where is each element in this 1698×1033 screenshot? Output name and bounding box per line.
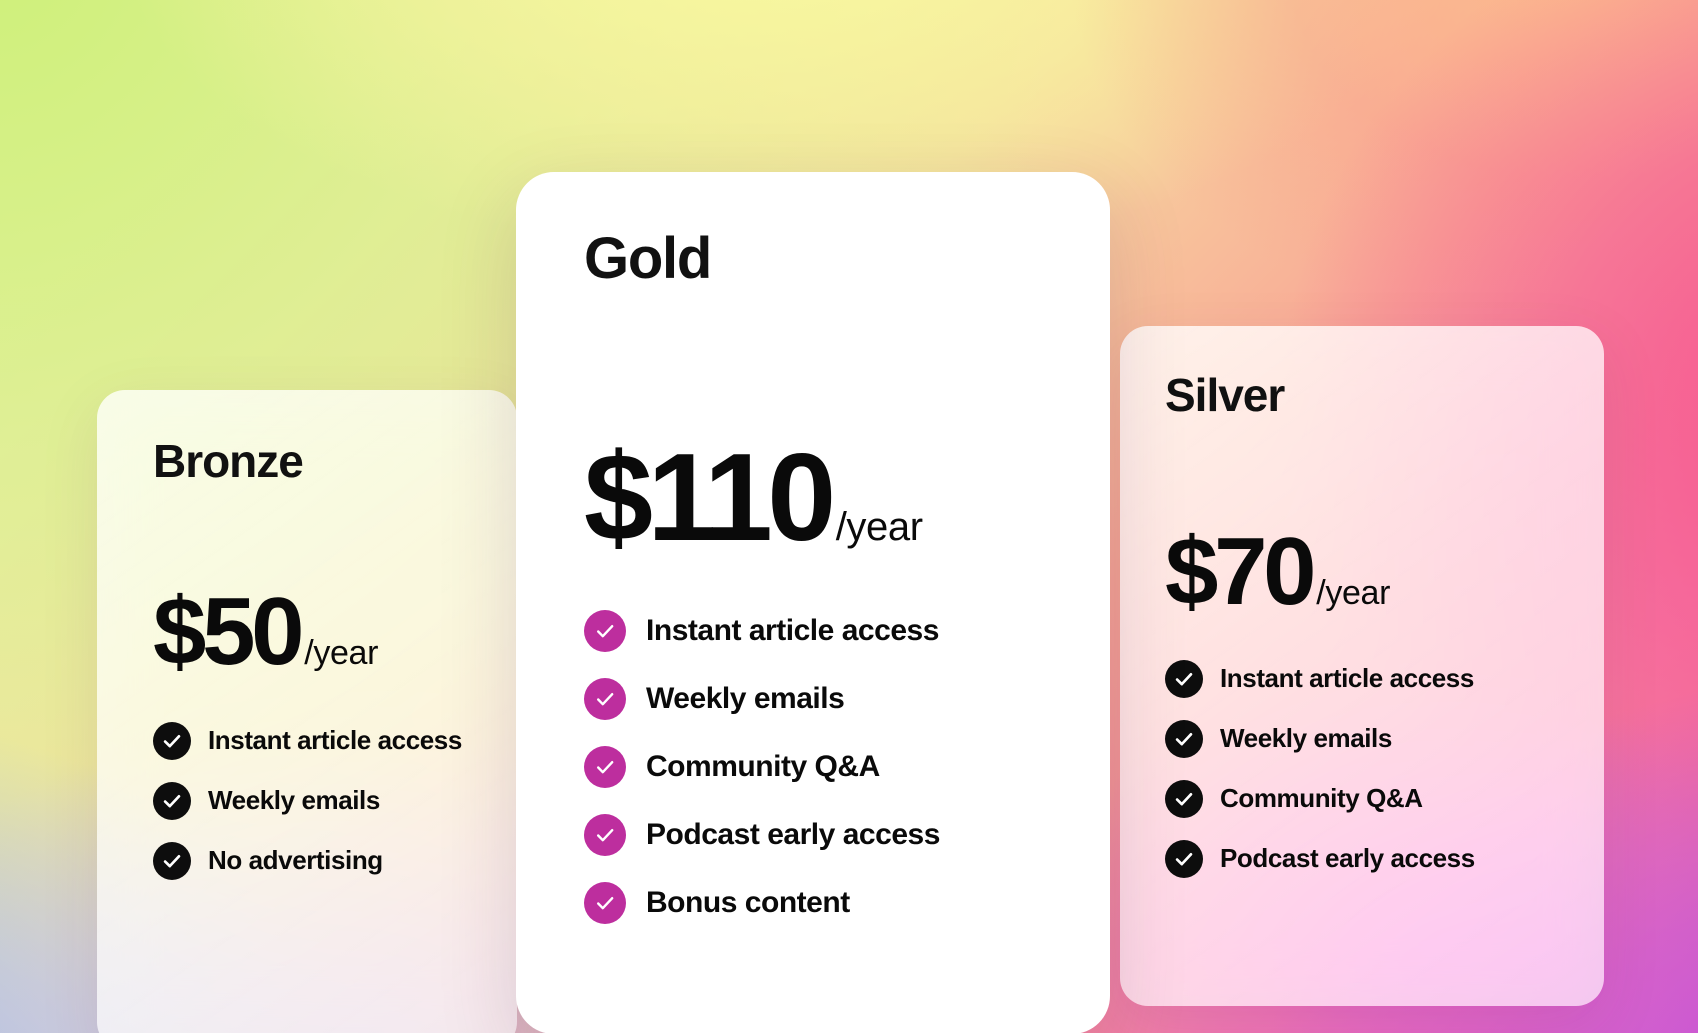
check-icon — [153, 842, 191, 880]
feature-label: Podcast early access — [1220, 844, 1475, 874]
price-silver: $70 /year — [1165, 524, 1604, 620]
check-icon — [584, 882, 626, 924]
feature-item: Community Q&A — [1165, 780, 1604, 818]
feature-label: Bonus content — [646, 886, 850, 921]
price-period-bronze: /year — [304, 636, 378, 670]
check-icon — [1165, 780, 1203, 818]
check-icon — [584, 678, 626, 720]
pricing-card-gold[interactable]: Gold $110 /year Instant article access W… — [516, 172, 1110, 1033]
feature-label: Instant article access — [646, 614, 939, 649]
check-icon — [153, 722, 191, 760]
price-gold: $110 /year — [584, 436, 1110, 560]
feature-label: Weekly emails — [208, 786, 380, 816]
feature-list-bronze: Instant article access Weekly emails No … — [153, 722, 517, 880]
price-amount-silver: $70 — [1165, 524, 1312, 620]
plan-name-bronze: Bronze — [153, 438, 517, 484]
feature-item: Instant article access — [584, 610, 1110, 652]
price-amount-bronze: $50 — [153, 584, 300, 680]
feature-list-gold: Instant article access Weekly emails Com… — [584, 610, 1110, 924]
feature-label: Community Q&A — [646, 750, 880, 785]
feature-item: No advertising — [153, 842, 517, 880]
pricing-card-silver[interactable]: Silver $70 /year Instant article access … — [1120, 326, 1604, 1006]
feature-item: Podcast early access — [584, 814, 1110, 856]
price-period-silver: /year — [1316, 576, 1390, 610]
pricing-card-bronze[interactable]: Bronze $50 /year Instant article access … — [97, 390, 517, 1033]
feature-label: Podcast early access — [646, 818, 940, 853]
feature-item: Bonus content — [584, 882, 1110, 924]
feature-item: Weekly emails — [1165, 720, 1604, 758]
feature-item: Instant article access — [1165, 660, 1604, 698]
feature-list-silver: Instant article access Weekly emails Com… — [1165, 660, 1604, 878]
check-icon — [1165, 660, 1203, 698]
feature-label: Instant article access — [208, 726, 462, 756]
plan-name-silver: Silver — [1165, 372, 1604, 418]
feature-item: Podcast early access — [1165, 840, 1604, 878]
feature-item: Instant article access — [153, 722, 517, 760]
price-period-gold: /year — [836, 507, 923, 547]
check-icon — [1165, 720, 1203, 758]
feature-label: Instant article access — [1220, 664, 1474, 694]
check-icon — [584, 746, 626, 788]
check-icon — [584, 610, 626, 652]
check-icon — [1165, 840, 1203, 878]
feature-label: Weekly emails — [1220, 724, 1392, 754]
price-bronze: $50 /year — [153, 584, 517, 680]
price-amount-gold: $110 — [584, 436, 831, 560]
feature-label: No advertising — [208, 846, 383, 876]
pricing-page: Bronze $50 /year Instant article access … — [0, 0, 1698, 1033]
feature-item: Weekly emails — [153, 782, 517, 820]
feature-label: Community Q&A — [1220, 784, 1423, 814]
feature-item: Weekly emails — [584, 678, 1110, 720]
feature-label: Weekly emails — [646, 682, 844, 717]
check-icon — [584, 814, 626, 856]
feature-item: Community Q&A — [584, 746, 1110, 788]
check-icon — [153, 782, 191, 820]
plan-name-gold: Gold — [584, 230, 1110, 288]
